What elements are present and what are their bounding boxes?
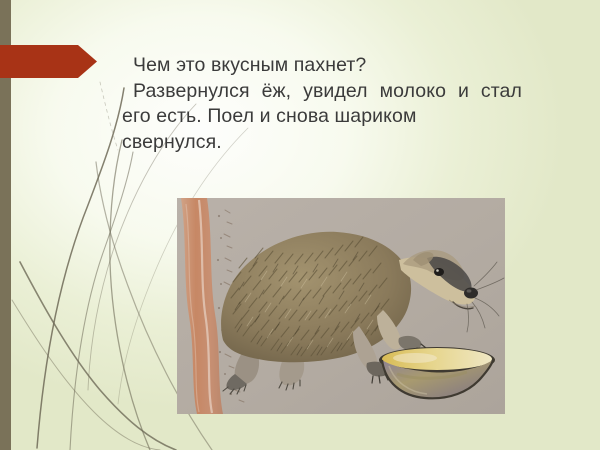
text-line-3-content: свернулся. bbox=[122, 131, 222, 153]
arrow-banner-icon bbox=[0, 45, 97, 78]
slide-body-text: Чем это вкусным пахнет? Развернулся ёж, … bbox=[122, 53, 522, 155]
hedgehog-illustration bbox=[177, 198, 505, 414]
slide-canvas: Чем это вкусным пахнет? Развернулся ёж, … bbox=[0, 0, 600, 450]
text-line-1: Чем это вкусным пахнет? bbox=[122, 53, 522, 79]
text-line-2: Развернулся ёж, увидел молоко и стал его… bbox=[122, 79, 522, 130]
text-line-2-content: Развернулся ёж, увидел молоко и стал его… bbox=[122, 80, 522, 128]
text-line-1-content: Чем это вкусным пахнет? bbox=[133, 54, 366, 76]
text-line-3: свернулся. bbox=[122, 130, 522, 156]
